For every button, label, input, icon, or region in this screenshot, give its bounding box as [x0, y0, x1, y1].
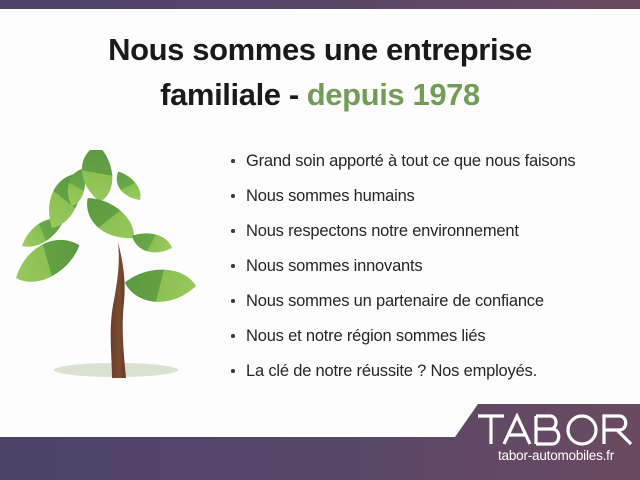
benefits-list: Grand soin apporté à tout ce que nous fa…	[228, 150, 628, 395]
list-item: Nous respectons notre environnement	[228, 220, 628, 255]
list-item-label: Nous sommes humains	[246, 187, 415, 205]
headline-accent: depuis 1978	[307, 77, 480, 112]
list-item: Nous et notre région sommes liés	[228, 325, 628, 360]
list-item-label: Nous sommes un partenaire de confiance	[246, 292, 544, 310]
page-title: Nous sommes une entreprise familiale -de…	[40, 27, 600, 117]
list-item: Nous sommes innovants	[228, 255, 628, 290]
list-item: Nous sommes un partenaire de confiance	[228, 290, 628, 325]
headline-line-2-main: familiale -	[160, 77, 299, 112]
list-item-label: Nous sommes innovants	[246, 257, 422, 275]
list-item-label: Nous et notre région sommes liés	[246, 327, 485, 345]
slide-canvas: Nous sommes une entreprise familiale -de…	[0, 0, 640, 480]
tree-trunk	[111, 242, 126, 378]
list-item-label: Nous respectons notre environnement	[246, 222, 519, 240]
footer-band	[0, 400, 640, 480]
headline-line-1: Nous sommes une entreprise	[108, 32, 532, 67]
tree-illustration	[8, 150, 228, 385]
list-item: La clé de notre réussite ? Nos employés.	[228, 360, 628, 395]
list-item-label: La clé de notre réussite ? Nos employés.	[246, 362, 537, 380]
tree-leaves	[9, 150, 198, 311]
list-item: Grand soin apporté à tout ce que nous fa…	[228, 150, 628, 185]
list-item: Nous sommes humains	[228, 185, 628, 220]
list-item-label: Grand soin apporté à tout ce que nous fa…	[246, 152, 575, 170]
top-accent-strip	[0, 0, 640, 9]
